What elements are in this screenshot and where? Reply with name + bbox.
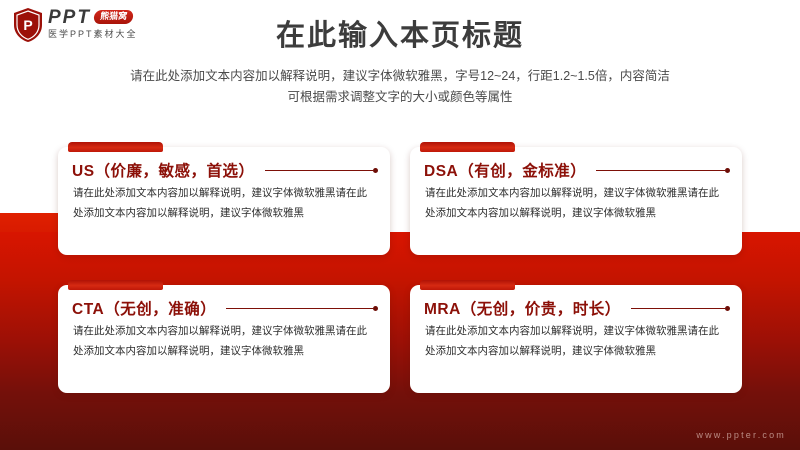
card-title: US（价廉，敏感，首选） bbox=[72, 159, 255, 181]
card-header: DSA（有创，金标准） bbox=[424, 159, 730, 181]
site-watermark: www.ppter.com bbox=[696, 430, 786, 440]
card-body-text: 请在此处添加文本内容加以解释说明，建议字体微软雅黑请在此处添加文本内容加以解释说… bbox=[425, 322, 725, 361]
card-tab-accent bbox=[420, 280, 515, 290]
card-header: CTA（无创，准确） bbox=[72, 297, 378, 319]
card-tab-accent bbox=[68, 142, 163, 152]
card-end-dot-icon bbox=[725, 306, 730, 311]
card-title: CTA（无创，准确） bbox=[72, 297, 216, 319]
card-header: US（价廉，敏感，首选） bbox=[72, 159, 378, 181]
content-card-dsa[interactable]: DSA（有创，金标准） 请在此处添加文本内容加以解释说明，建议字体微软雅黑请在此… bbox=[410, 147, 742, 255]
card-rule-line bbox=[226, 308, 373, 309]
card-end-dot-icon bbox=[373, 306, 378, 311]
card-end-dot-icon bbox=[373, 168, 378, 173]
subtitle-line-2: 可根据需求调整文字的大小或颜色等属性 bbox=[0, 87, 800, 108]
content-card-cta[interactable]: CTA（无创，准确） 请在此处添加文本内容加以解释说明，建议字体微软雅黑请在此处… bbox=[58, 285, 390, 393]
card-tab-accent bbox=[420, 142, 515, 152]
card-title: DSA（有创，金标准） bbox=[424, 159, 586, 181]
card-header: MRA（无创，价贵，时长） bbox=[424, 297, 730, 319]
page-subtitle: 请在此处添加文本内容加以解释说明，建议字体微软雅黑，字号12~24，行距1.2~… bbox=[0, 66, 800, 108]
card-rule-line bbox=[265, 170, 373, 171]
card-body-text: 请在此处添加文本内容加以解释说明，建议字体微软雅黑请在此处添加文本内容加以解释说… bbox=[425, 184, 725, 223]
page-title: 在此输入本页标题 bbox=[0, 18, 800, 54]
content-card-mra[interactable]: MRA（无创，价贵，时长） 请在此处添加文本内容加以解释说明，建议字体微软雅黑请… bbox=[410, 285, 742, 393]
card-rule-line bbox=[631, 308, 725, 309]
card-title: MRA（无创，价贵，时长） bbox=[424, 297, 621, 319]
slide-canvas: P PPT 熊猫窝 医学PPT素材大全 在此输入本页标题 请在此处添加文本内容加… bbox=[0, 0, 800, 450]
card-tab-accent bbox=[68, 280, 163, 290]
card-rule-line bbox=[596, 170, 725, 171]
subtitle-line-1: 请在此处添加文本内容加以解释说明，建议字体微软雅黑，字号12~24，行距1.2~… bbox=[0, 66, 800, 87]
content-card-us[interactable]: US（价廉，敏感，首选） 请在此处添加文本内容加以解释说明，建议字体微软雅黑请在… bbox=[58, 147, 390, 255]
card-end-dot-icon bbox=[725, 168, 730, 173]
card-body-text: 请在此处添加文本内容加以解释说明，建议字体微软雅黑请在此处添加文本内容加以解释说… bbox=[73, 184, 373, 223]
card-body-text: 请在此处添加文本内容加以解释说明，建议字体微软雅黑请在此处添加文本内容加以解释说… bbox=[73, 322, 373, 361]
